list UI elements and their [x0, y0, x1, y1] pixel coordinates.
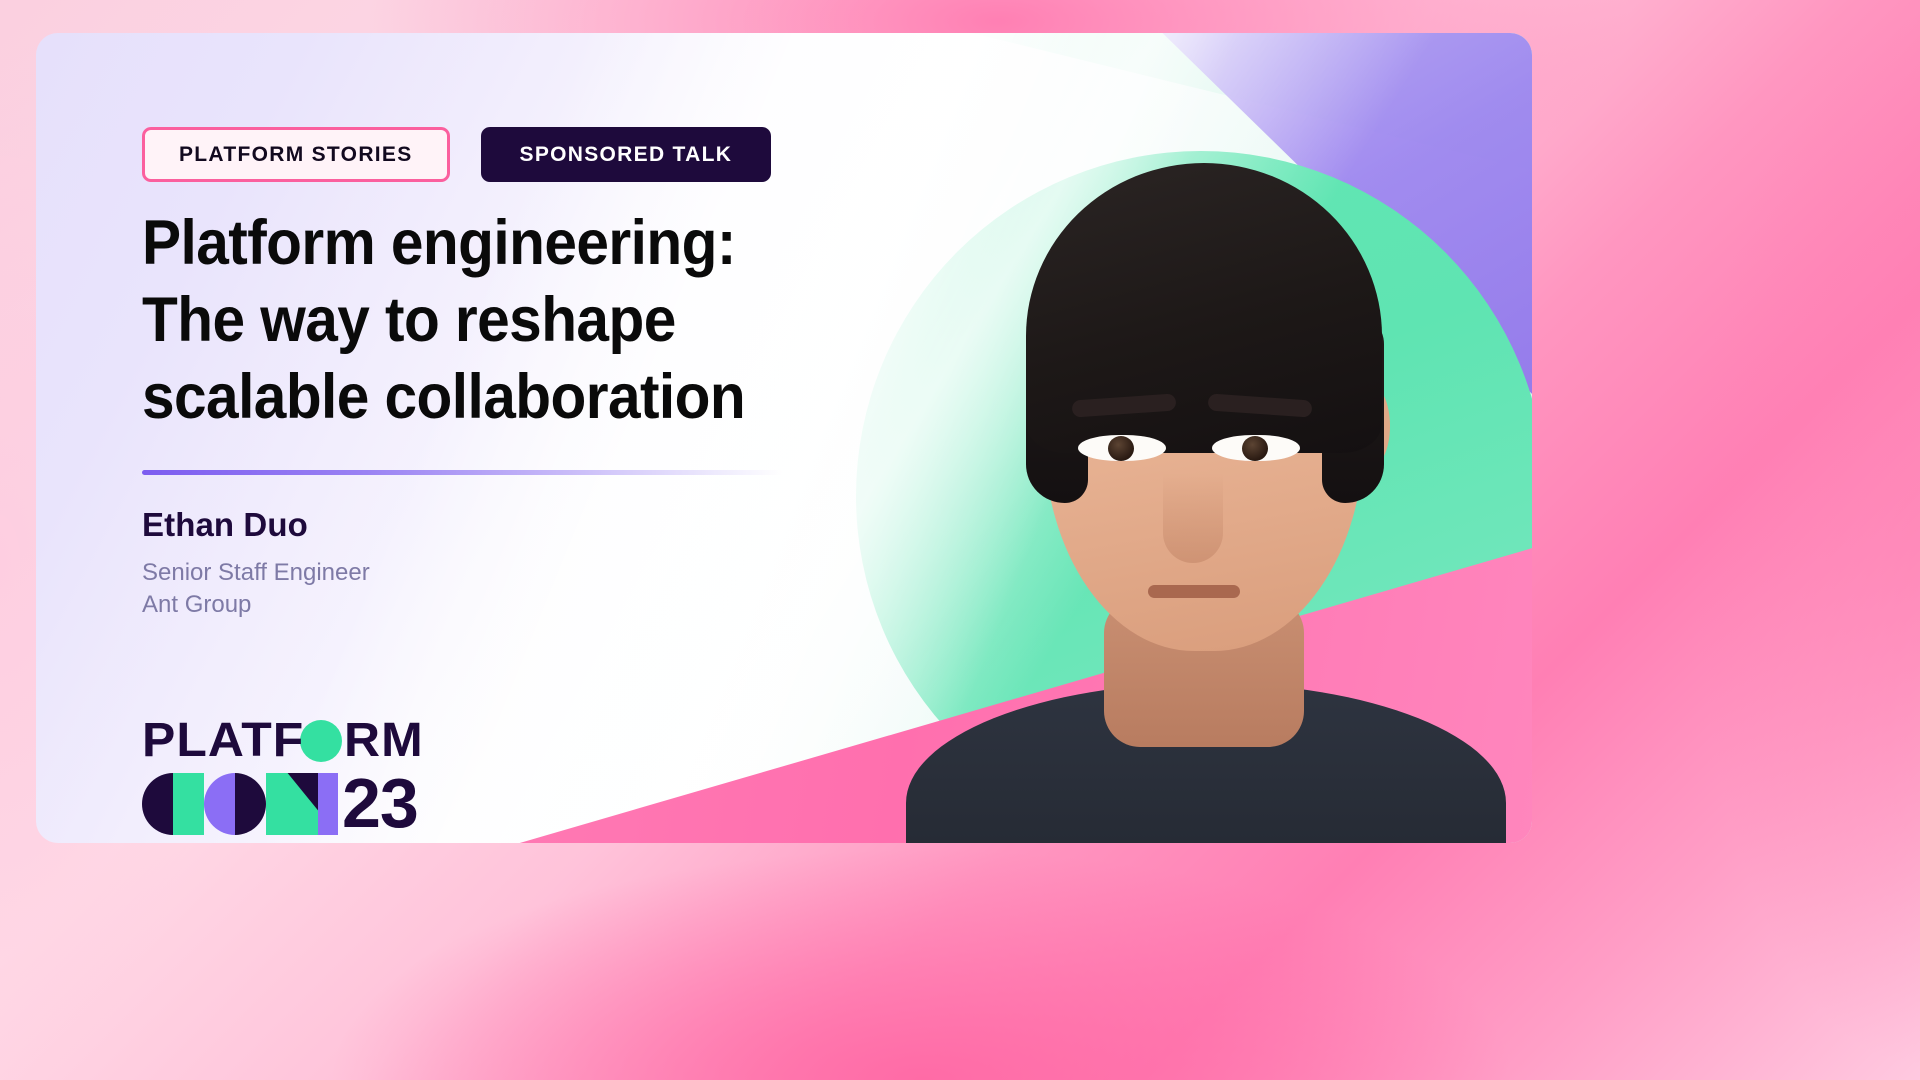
portrait-iris-left [1108, 436, 1134, 461]
divider [142, 470, 782, 475]
logo-year: 23 [342, 773, 418, 835]
title-line-2: The way to reshape [142, 282, 812, 359]
logo-wordmark: PLATF RM [142, 717, 421, 765]
speaker-affiliation: Senior Staff Engineer Ant Group [142, 557, 370, 620]
avatar [876, 33, 1532, 843]
badge-platform-stories[interactable]: PLATFORM STORIES [142, 127, 450, 182]
page-title: Platform engineering: The way to reshape… [142, 205, 812, 436]
badge-row: PLATFORM STORIES SPONSORED TALK [142, 127, 771, 182]
title-line-1: Platform engineering: [142, 205, 812, 282]
n-glyph-icon [266, 773, 338, 835]
speaker-name: Ethan Duo [142, 506, 308, 544]
logo-text-rm: RM [344, 717, 424, 765]
c-glyph-icon [142, 773, 204, 835]
logo-con-year: 23 [142, 771, 421, 835]
platformcon-logo: PLATF RM 23 [142, 717, 421, 835]
portrait-eye-right [1212, 435, 1300, 461]
speaker-role: Senior Staff Engineer [142, 557, 370, 589]
card-content: PLATFORM STORIES SPONSORED TALK Platform… [36, 33, 896, 843]
portrait-nose [1163, 473, 1223, 563]
logo-text-platf: PLATF [142, 717, 304, 765]
circle-o-icon [300, 720, 342, 762]
speaker-company: Ant Group [142, 589, 370, 621]
poster-canvas: PLATFORM STORIES SPONSORED TALK Platform… [0, 0, 1920, 1080]
speaker-card: PLATFORM STORIES SPONSORED TALK Platform… [36, 33, 1532, 843]
portrait-mouth [1148, 585, 1240, 598]
o-glyph-icon [204, 773, 266, 835]
portrait-iris-right [1242, 436, 1268, 461]
portrait-eye-left [1078, 435, 1166, 461]
title-line-3: scalable collaboration [142, 359, 812, 436]
badge-sponsored-talk[interactable]: SPONSORED TALK [481, 127, 772, 182]
